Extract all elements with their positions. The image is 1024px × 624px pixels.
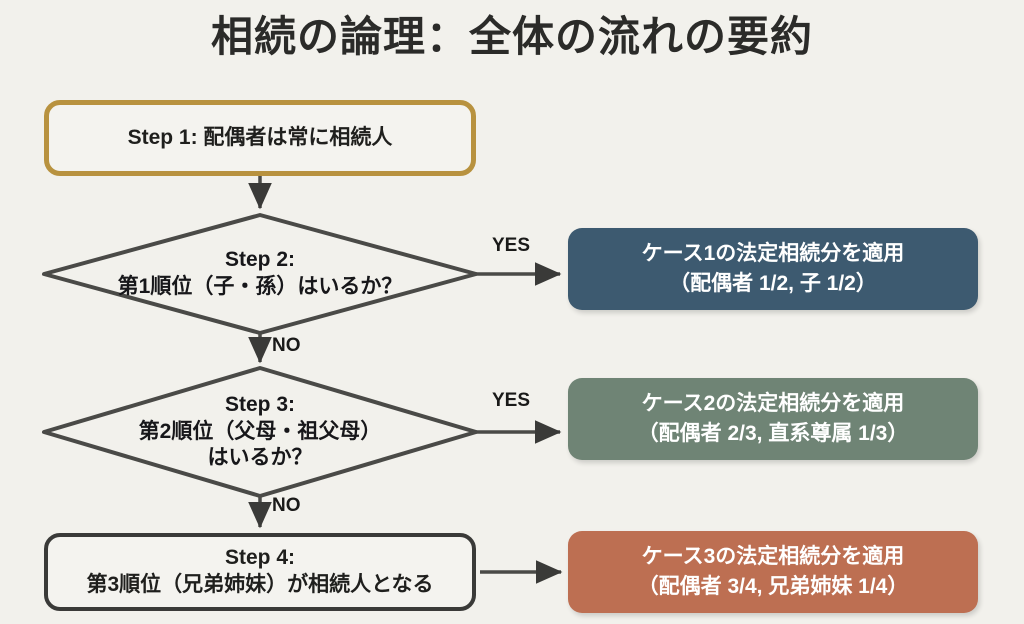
edge-label-no-2: NO: [272, 495, 301, 517]
edge-label-yes-1: YES: [492, 235, 530, 257]
decision-step3-line2: 第2順位（父母・祖父母）: [139, 419, 382, 446]
result-case3-line1: ケース3の法定相続分を適用: [642, 544, 905, 571]
decision-step3-line3: はいるか？: [208, 445, 313, 472]
edge-label-no-1: NO: [272, 335, 301, 357]
node-step1-spouse[interactable]: Step 1: 配偶者は常に相続人: [44, 100, 476, 176]
node-decision-step3[interactable]: Step 3: 第2順位（父母・祖父母） はいるか？: [44, 368, 476, 496]
result-case2-line2: （配偶者 2/3, 直系尊属 1/3）: [638, 421, 909, 448]
page-title: 相続の論理：全体の流れの要約: [0, 12, 1024, 62]
decision-step2-line1: Step 2:: [225, 247, 295, 274]
edge-label-yes-2: YES: [492, 390, 530, 412]
result-case1-line1: ケース1の法定相続分を適用: [642, 241, 905, 268]
node-result-case2[interactable]: ケース2の法定相続分を適用 （配偶者 2/3, 直系尊属 1/3）: [568, 378, 978, 460]
node-decision-step2[interactable]: Step 2: 第1順位（子・孫）はいるか？: [44, 215, 476, 333]
node-step4-siblings[interactable]: Step 4: 第3順位（兄弟姉妹）が相続人となる: [44, 533, 476, 611]
node-result-case3[interactable]: ケース3の法定相続分を適用 （配偶者 3/4, 兄弟姉妹 1/4）: [568, 531, 978, 613]
decision-step2-line2: 第1順位（子・孫）はいるか？: [118, 274, 403, 301]
result-case2-line1: ケース2の法定相続分を適用: [642, 391, 905, 418]
flowchart-canvas: 相続の論理：全体の流れの要約 Step 1: 配偶者は常に相続人 Step 2:: [0, 0, 1024, 624]
node-step4-line2: 第3順位（兄弟姉妹）が相続人となる: [86, 572, 433, 599]
node-result-case1[interactable]: ケース1の法定相続分を適用 （配偶者 1/2, 子 1/2）: [568, 228, 978, 310]
decision-step3-line1: Step 3:: [225, 392, 295, 419]
node-step1-label: Step 1: 配偶者は常に相続人: [128, 125, 393, 152]
result-case1-line2: （配偶者 1/2, 子 1/2）: [669, 271, 877, 298]
node-step4-line1: Step 4:: [225, 545, 295, 572]
result-case3-line2: （配偶者 3/4, 兄弟姉妹 1/4）: [638, 574, 909, 601]
